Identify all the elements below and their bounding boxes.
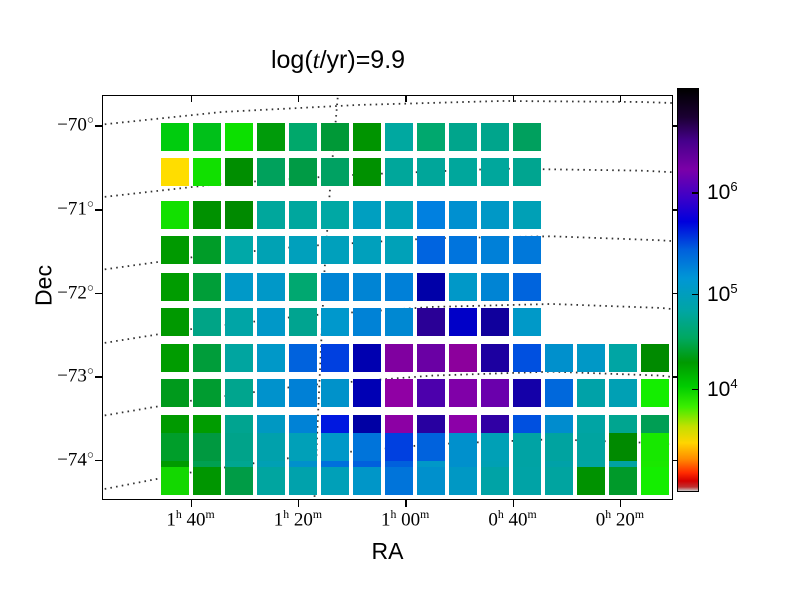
heatmap-tile [545, 433, 573, 461]
heatmap-tile [289, 236, 317, 264]
heatmap-tile [225, 201, 253, 229]
heatmap-tile [193, 379, 221, 407]
heatmap-tile [385, 158, 413, 186]
heatmap-tile [225, 379, 253, 407]
heatmap-tile [385, 344, 413, 372]
heatmap-tile [449, 123, 477, 151]
heatmap-tile [353, 273, 381, 301]
heatmap-tile [225, 433, 253, 461]
x-tick-label: 0h 20m [596, 508, 644, 531]
heatmap-tile [289, 308, 317, 336]
heatmap-tile [161, 379, 189, 407]
heatmap-tile [449, 344, 477, 372]
heatmap-tile [481, 379, 509, 407]
y-axis-title: Dec [31, 226, 58, 346]
heatmap-tile [257, 236, 285, 264]
x-tick-mark-top [298, 95, 299, 102]
heatmap-tile [417, 467, 445, 495]
heatmap-tile [321, 344, 349, 372]
heatmap-tile [289, 433, 317, 461]
heatmap-tile [641, 467, 669, 495]
heatmap-tile [481, 273, 509, 301]
figure-canvas: log(t/yr)=9.9 1h 40m1h 20m1h 00m0h 40m0h… [0, 0, 800, 600]
heatmap-tile [257, 123, 285, 151]
heatmap-tile [321, 123, 349, 151]
heatmap-tile [417, 236, 445, 264]
heatmap-tile [449, 236, 477, 264]
colorbar-tick-label: 104 [707, 376, 738, 402]
heatmap-tile [353, 433, 381, 461]
heatmap-tile [513, 158, 541, 186]
heatmap-tile [353, 201, 381, 229]
heatmap-tile [193, 344, 221, 372]
heatmap-tile [481, 344, 509, 372]
heatmap-tile [289, 467, 317, 495]
x-tick-mark [513, 500, 514, 507]
heatmap-tile [161, 308, 189, 336]
heatmap-tile [641, 433, 669, 461]
heatmap-tile [449, 201, 477, 229]
heatmap-tile [161, 344, 189, 372]
heatmap-tile [161, 236, 189, 264]
y-tick-mark [95, 376, 102, 377]
heatmap-tile [513, 344, 541, 372]
heatmap-tile [257, 344, 285, 372]
heatmap-tile [225, 308, 253, 336]
heatmap-tile [481, 123, 509, 151]
heatmap-tile [321, 236, 349, 264]
heatmap-tile [193, 123, 221, 151]
heatmap-tile [385, 236, 413, 264]
y-tick-label: −74○ [10, 448, 94, 471]
heatmap-tile [257, 201, 285, 229]
heatmap-tile [385, 467, 413, 495]
x-tick-label: 1h 40m [166, 508, 214, 531]
heatmap-tile [353, 308, 381, 336]
heatmap-tile [513, 308, 541, 336]
heatmap-tile [385, 273, 413, 301]
heatmap-tile [161, 158, 189, 186]
heatmap-tile [481, 433, 509, 461]
heatmap-tile [385, 123, 413, 151]
y-tick-mark [95, 209, 102, 210]
heatmap-tile [417, 158, 445, 186]
heatmap-tile [449, 273, 477, 301]
heatmap-tile [641, 379, 669, 407]
heatmap-tile [513, 123, 541, 151]
heatmap-tile [161, 433, 189, 461]
x-tick-mark-top [513, 95, 514, 102]
heatmap-tile [257, 433, 285, 461]
heatmap-tile [481, 467, 509, 495]
heatmap-tile [289, 201, 317, 229]
heatmap-tile [321, 379, 349, 407]
heatmap-tile [257, 467, 285, 495]
heatmap-tile [353, 344, 381, 372]
x-tick-mark-top [191, 95, 192, 102]
x-tick-mark [191, 500, 192, 507]
heatmap-tile [161, 467, 189, 495]
heatmap-tile [545, 467, 573, 495]
heatmap-tile [513, 273, 541, 301]
heatmap-tile [193, 236, 221, 264]
heatmap-tile [353, 467, 381, 495]
heatmap-tile [321, 308, 349, 336]
heatmap-tile [609, 344, 637, 372]
heatmap-tile [225, 273, 253, 301]
heatmap-tile [513, 433, 541, 461]
heatmap-tile [353, 379, 381, 407]
heatmap-tile [449, 433, 477, 461]
heatmap-tile [193, 201, 221, 229]
heatmap-tile [225, 123, 253, 151]
heatmap-tile [481, 236, 509, 264]
x-tick-mark-top [620, 95, 621, 102]
heatmap-tile [321, 158, 349, 186]
y-tick-label: −73○ [10, 365, 94, 388]
title-suffix: /yr)=9.9 [320, 46, 405, 74]
heatmap-tile [641, 344, 669, 372]
heatmap-tile [417, 123, 445, 151]
heatmap-tile [289, 273, 317, 301]
colorbar-gradient [678, 89, 698, 491]
colorbar-tick-label: 105 [707, 281, 738, 307]
heatmap-tile [609, 467, 637, 495]
heatmap-tile [449, 379, 477, 407]
heatmap-tile [257, 308, 285, 336]
y-tick-label: −71○ [10, 198, 94, 221]
heatmap-tile [193, 273, 221, 301]
heatmap-tile [417, 273, 445, 301]
x-tick-mark-top [405, 95, 406, 102]
heatmap-tile [609, 379, 637, 407]
colorbar-tick-label: 106 [707, 179, 738, 205]
heatmap-tile [193, 433, 221, 461]
heatmap-tile [321, 467, 349, 495]
x-tick-label: 1h 20m [274, 508, 322, 531]
heatmap-tiles [103, 96, 672, 499]
heatmap-tile [289, 158, 317, 186]
heatmap-tile [225, 236, 253, 264]
x-tick-mark [620, 500, 621, 507]
heatmap-tile [353, 123, 381, 151]
x-tick-mark [298, 500, 299, 507]
heatmap-tile [577, 433, 605, 461]
heatmap-tile [257, 158, 285, 186]
x-tick-label: 0h 40m [488, 508, 536, 531]
heatmap-tile [321, 273, 349, 301]
colorbar-tick-mark [692, 389, 699, 390]
heatmap-tile [385, 379, 413, 407]
heatmap-tile [481, 158, 509, 186]
heatmap-tile [161, 123, 189, 151]
y-tick-label: −70○ [10, 114, 94, 137]
heatmap-tile [513, 467, 541, 495]
heatmap-tile [161, 273, 189, 301]
heatmap-tile [257, 273, 285, 301]
heatmap-tile [417, 201, 445, 229]
heatmap-tile [417, 379, 445, 407]
colorbar-tick-mark [692, 294, 699, 295]
heatmap-tile [417, 433, 445, 461]
y-tick-mark [95, 460, 102, 461]
heatmap-tile [609, 433, 637, 461]
heatmap-tile [577, 344, 605, 372]
heatmap-tile [385, 433, 413, 461]
heatmap-tile [513, 236, 541, 264]
heatmap-tile [161, 201, 189, 229]
colorbar-tick-mark [692, 192, 699, 193]
title-prefix: log( [271, 46, 313, 74]
heatmap-tile [321, 201, 349, 229]
heatmap-tile [321, 433, 349, 461]
heatmap-tile [257, 379, 285, 407]
heatmap-tile [289, 379, 317, 407]
heatmap-tile [385, 201, 413, 229]
x-tick-label: 1h 00m [381, 508, 429, 531]
heatmap-tile [545, 379, 573, 407]
heatmap-tile [193, 308, 221, 336]
title-variable: t [313, 47, 320, 74]
y-tick-mark [95, 125, 102, 126]
heatmap-tile [225, 344, 253, 372]
heatmap-tile [513, 201, 541, 229]
colorbar [677, 88, 699, 492]
heatmap-tile [417, 344, 445, 372]
heatmap-tile [385, 308, 413, 336]
heatmap-tile [289, 344, 317, 372]
heatmap-tile [449, 467, 477, 495]
y-tick-mark [95, 293, 102, 294]
plot-title: log(t/yr)=9.9 [0, 46, 676, 75]
heatmap-tile [481, 308, 509, 336]
heatmap-tile [353, 158, 381, 186]
heatmap-tile [225, 467, 253, 495]
heatmap-tile [225, 158, 253, 186]
heatmap-tile [513, 379, 541, 407]
heatmap-tile [545, 344, 573, 372]
x-axis-title: RA [102, 538, 673, 565]
heatmap-tile [481, 201, 509, 229]
x-tick-mark [405, 500, 406, 507]
heatmap-tile [193, 467, 221, 495]
heatmap-tile [449, 158, 477, 186]
heatmap-tile [289, 123, 317, 151]
heatmap-tile [417, 308, 445, 336]
plot-area [102, 95, 673, 500]
heatmap-tile [577, 467, 605, 495]
heatmap-tile [193, 158, 221, 186]
heatmap-tile [353, 236, 381, 264]
heatmap-tile [449, 308, 477, 336]
heatmap-tile [577, 379, 605, 407]
